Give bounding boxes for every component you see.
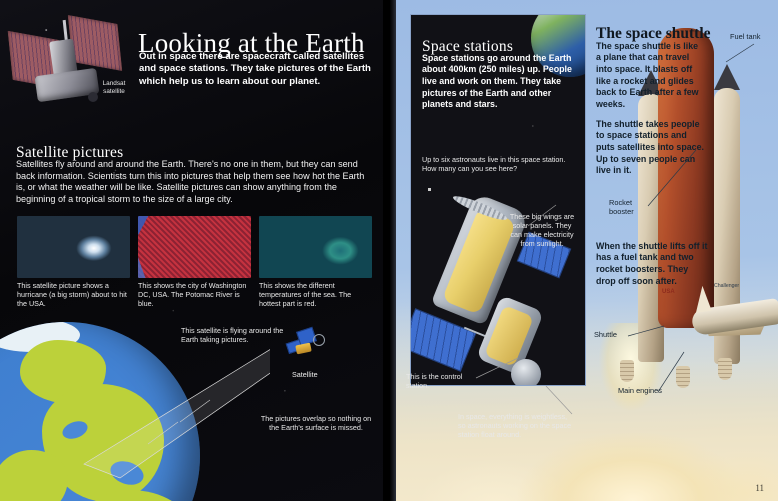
fuel-tank-label: Fuel tank (730, 32, 764, 41)
left-page: Landsat satellite Looking at the Earth O… (0, 0, 385, 501)
orbiter-tail-fin (692, 285, 711, 313)
shuttle-paragraph-2: The shuttle takes people to space statio… (596, 119, 706, 177)
booster-nose-right (714, 64, 740, 90)
orbiting-satellite-icon (287, 330, 327, 364)
shuttle-paragraph-1: The space shuttle is like a plane that c… (596, 41, 704, 111)
hurricane-photo-caption: This satellite picture shows a hurricane… (17, 281, 130, 308)
hurricane-photo (17, 216, 130, 278)
orbiter-vehicle (692, 286, 778, 362)
page-number: 11 (755, 483, 764, 493)
orbiter-name-label: Challenger (714, 282, 739, 291)
intro-paragraph: Out in space there are spacecraft called… (139, 51, 377, 89)
landmass-britain (0, 450, 68, 501)
mini-satellite-body (295, 343, 312, 355)
solar-panels-caption: These big wings are solar panels. They c… (509, 212, 575, 248)
satellite-photo-captions: This satellite picture shows a hurricane… (17, 281, 373, 308)
space-stations-paragraph: Space stations go around the Earth about… (422, 53, 574, 111)
landsat-satellite-label: Landsat satellite (92, 80, 136, 96)
pictures-overlap-caption: The pictures overlap so nothing on the E… (258, 414, 374, 432)
usa-marking-label: USA (662, 288, 675, 297)
satellite-flying-caption: This satellite is flying around the Eart… (181, 326, 289, 344)
sea-temperature-photo-caption: This shows the different temperatures of… (259, 281, 372, 308)
space-stations-panel: Space stations Space stations go around … (410, 14, 586, 386)
main-engine-nozzle-2 (676, 366, 690, 388)
book-spread: Landsat satellite Looking at the Earth O… (0, 0, 778, 501)
shuttle-paragraph-3: When the shuttle lifts off it has a fuel… (596, 241, 708, 287)
main-engine-nozzle-3 (718, 358, 732, 380)
washington-photo-caption: This shows the city of Washington DC, US… (138, 281, 251, 308)
washington-photo (138, 216, 251, 278)
antenna-dish-icon (313, 334, 325, 346)
weightless-caption: In space, everything is weightless, so a… (458, 412, 576, 439)
shuttle-label: Shuttle (594, 330, 630, 339)
rocket-booster-label: Rocket booster (609, 198, 655, 216)
astronauts-question-caption: Up to six astronauts live in this space … (422, 155, 570, 173)
main-engines-label: Main engines (618, 386, 662, 395)
star-dot (428, 188, 431, 191)
satellite-pictures-paragraph: Satellites fly around and around the Ear… (16, 159, 374, 205)
sea-temperature-photo (259, 216, 372, 278)
satellite-label: Satellite (292, 370, 318, 379)
right-page: Space stations Space stations go around … (396, 0, 778, 501)
satellite-photo-row (17, 216, 373, 278)
main-engine-nozzle-1 (620, 360, 634, 382)
space-stations-panel-background: Space stations Space stations go around … (411, 15, 585, 385)
control-station-caption: This is the control station. (406, 372, 478, 390)
